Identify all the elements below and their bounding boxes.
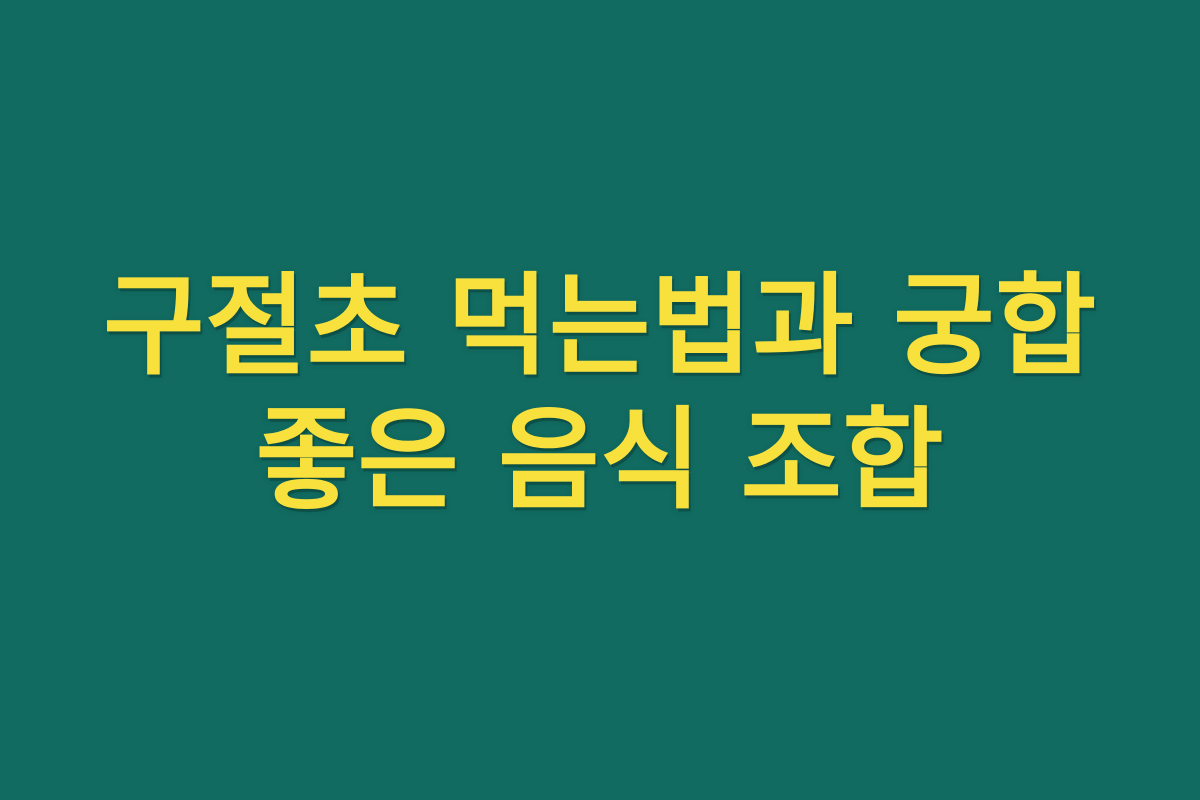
title-line-1: 구절초 먹는법과 궁합: [40, 259, 1160, 393]
title-line-2: 좋은 음식 조합: [40, 393, 1160, 527]
page-title: 구절초 먹는법과 궁합 좋은 음식 조합: [0, 259, 1200, 527]
thumbnail-card: 구절초 먹는법과 궁합 좋은 음식 조합: [0, 0, 1200, 800]
